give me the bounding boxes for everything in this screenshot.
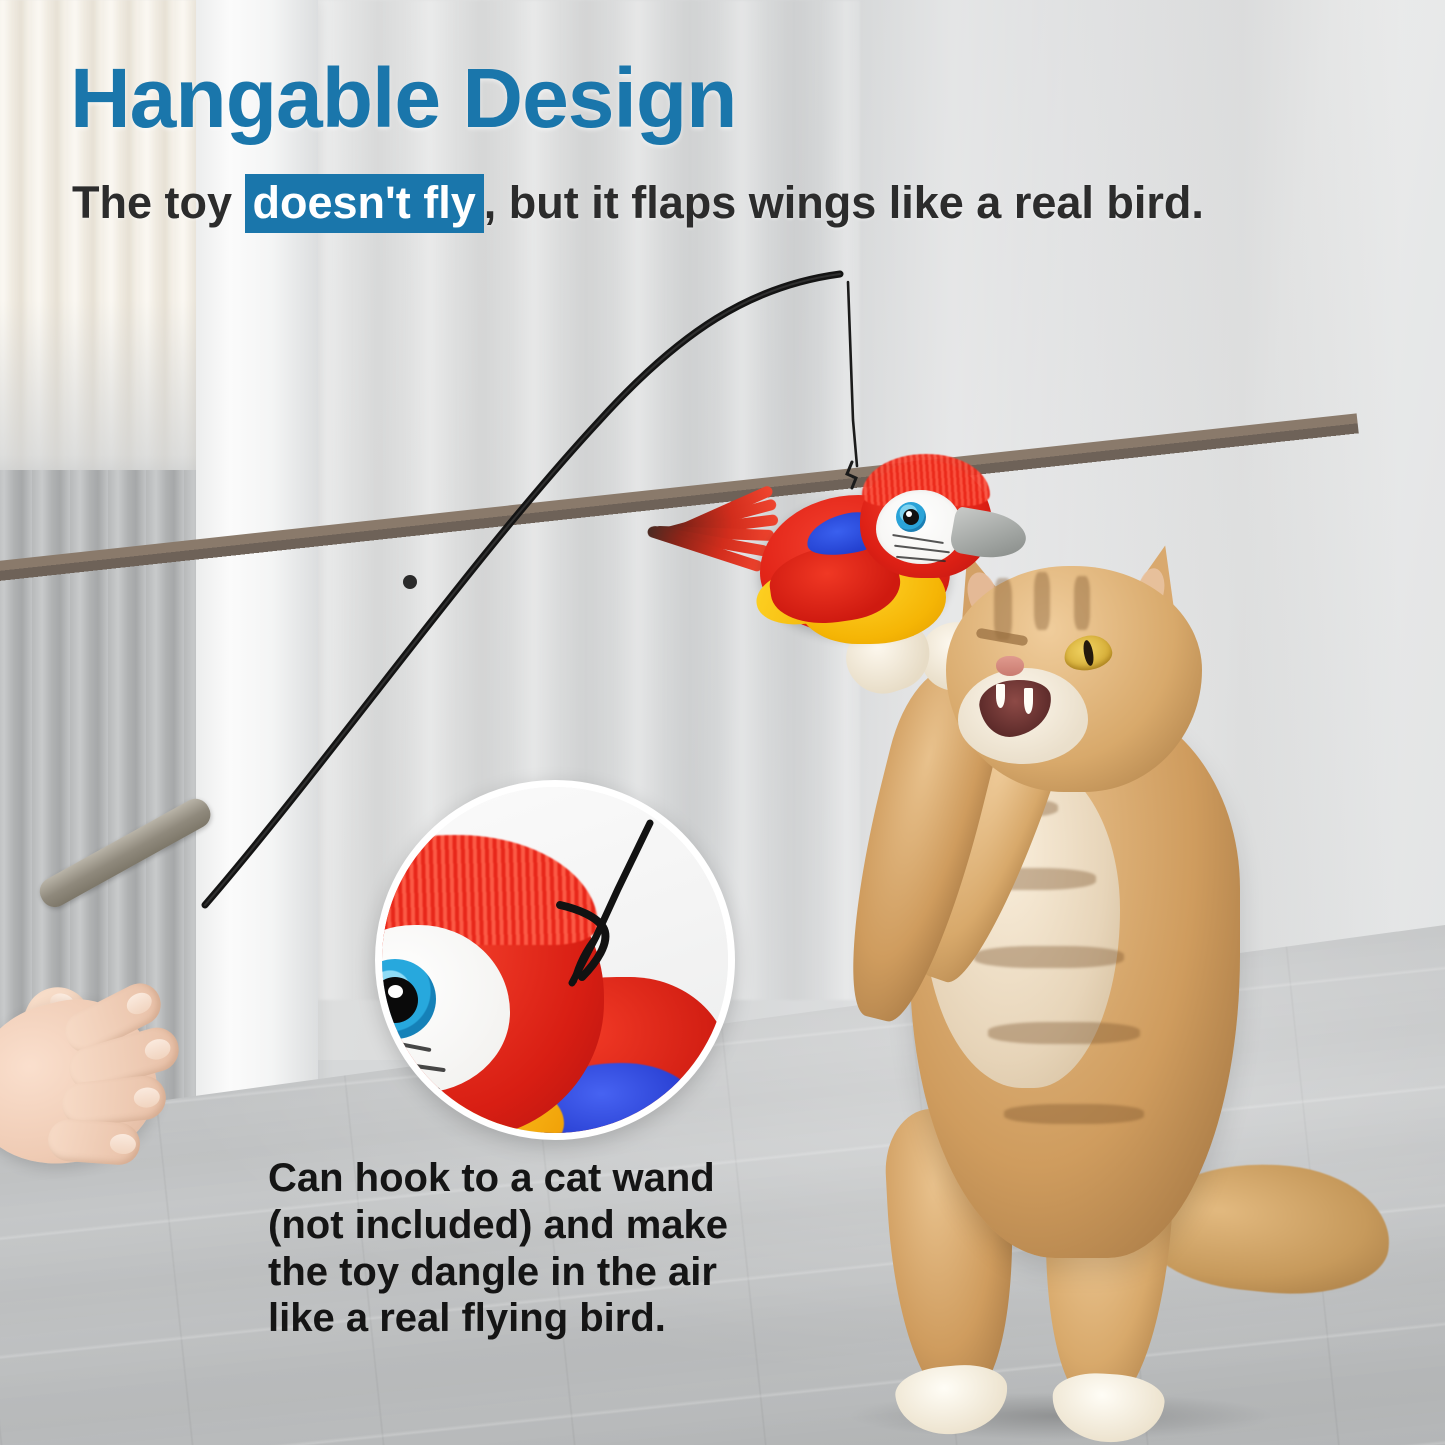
- cat-paw-floor-right: [1050, 1370, 1166, 1445]
- subtitle-after: , but it flaps wings like a real bird.: [484, 177, 1204, 228]
- fingernail: [109, 1133, 136, 1155]
- closeup-inset-circle: [375, 780, 735, 1140]
- cheek-line: [892, 534, 944, 544]
- cat: [828, 548, 1388, 1445]
- subtitle: The toy doesn't fly, but it flaps wings …: [72, 176, 1204, 229]
- plush-parrot-toy: [640, 440, 1020, 670]
- cat-stripe: [974, 946, 1124, 968]
- inset-hook-string: [382, 787, 728, 1133]
- fingernail: [133, 1086, 161, 1109]
- subtitle-highlight: doesn't fly: [245, 174, 484, 233]
- cat-stripe: [1004, 1104, 1144, 1124]
- cat-fang: [1024, 688, 1033, 714]
- cat-paw-floor-left: [893, 1361, 1011, 1439]
- bird-eye-glint: [906, 511, 912, 517]
- cheek-line: [896, 556, 946, 562]
- cat-stripe: [988, 1022, 1140, 1044]
- hand-holding-wand: [0, 975, 200, 1190]
- cheek-line: [894, 545, 950, 554]
- feature-caption: Can hook to a cat wand (not included) an…: [268, 1155, 728, 1342]
- fingernail: [142, 1036, 173, 1062]
- subtitle-before: The toy: [72, 177, 245, 228]
- page-title: Hangable Design: [70, 56, 736, 140]
- cat-fang: [996, 684, 1005, 708]
- cat-forehead-stripe: [1074, 576, 1090, 630]
- cat-forehead-stripe: [1034, 572, 1050, 630]
- fingernail: [123, 989, 155, 1019]
- product-feature-image: Hangable Design The toy doesn't fly, but…: [0, 0, 1445, 1445]
- bird-cheek-lines: [892, 536, 966, 570]
- little-finger: [47, 1118, 142, 1166]
